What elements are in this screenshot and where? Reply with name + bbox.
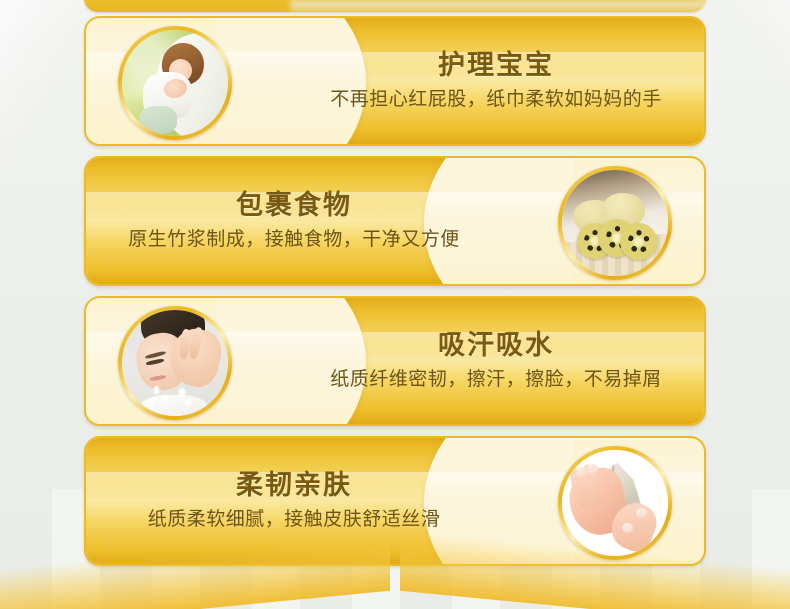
woman-washing-face-photo: [118, 306, 232, 420]
card-title: 包裹食物: [236, 189, 352, 221]
card-text-block: 护理宝宝 不再担心红屁股，纸巾柔软如妈妈的手: [296, 18, 696, 144]
light-band: [770, 0, 790, 609]
card-subtitle: 不再担心红屁股，纸巾柔软如妈妈的手: [330, 88, 662, 113]
feature-card-list: 护理宝宝 不再担心红屁股，纸巾柔软如妈妈的手: [84, 16, 706, 576]
shadow-band: [0, 0, 44, 609]
card-subtitle: 纸质纤维密韧，擦汗，擦脸，不易掉屑: [330, 368, 662, 393]
card-title: 吸汗吸水: [438, 329, 554, 361]
feature-card-soft-skin-friendly[interactable]: 柔韧亲肤 纸质柔软细腻，接触皮肤舒适丝滑: [84, 436, 706, 566]
card-title: 柔韧亲肤: [236, 469, 352, 501]
previous-card-peek: [84, 0, 706, 12]
promo-page: 护理宝宝 不再担心红屁股，纸巾柔软如妈妈的手: [0, 0, 790, 609]
card-text-block: 包裹食物 原生竹浆制成，接触食物，干净又方便: [94, 158, 494, 284]
feature-card-care-baby[interactable]: 护理宝宝 不再担心红屁股，纸巾柔软如妈妈的手: [84, 16, 706, 146]
feature-card-absorb-sweat[interactable]: 吸汗吸水 纸质纤维密韧，擦汗，擦脸，不易掉屑: [84, 296, 706, 426]
card-title: 护理宝宝: [438, 49, 554, 81]
card-subtitle: 纸质柔软细腻，接触皮肤舒适丝滑: [148, 508, 441, 533]
card-text-block: 吸汗吸水 纸质纤维密韧，擦汗，擦脸，不易掉屑: [296, 298, 696, 424]
hand-holding-tissue-photo: [558, 446, 672, 560]
card-subtitle: 原生竹浆制成，接触食物，干净又方便: [128, 228, 460, 253]
baby-in-meadow-photo: [118, 26, 232, 140]
kiwi-slices-photo: [558, 166, 672, 280]
feature-card-wrap-food[interactable]: 包裹食物 原生竹浆制成，接触食物，干净又方便: [84, 156, 706, 286]
shadow-band: [707, 0, 790, 609]
card-text-block: 柔韧亲肤 纸质柔软细腻，接触皮肤舒适丝滑: [94, 438, 494, 564]
